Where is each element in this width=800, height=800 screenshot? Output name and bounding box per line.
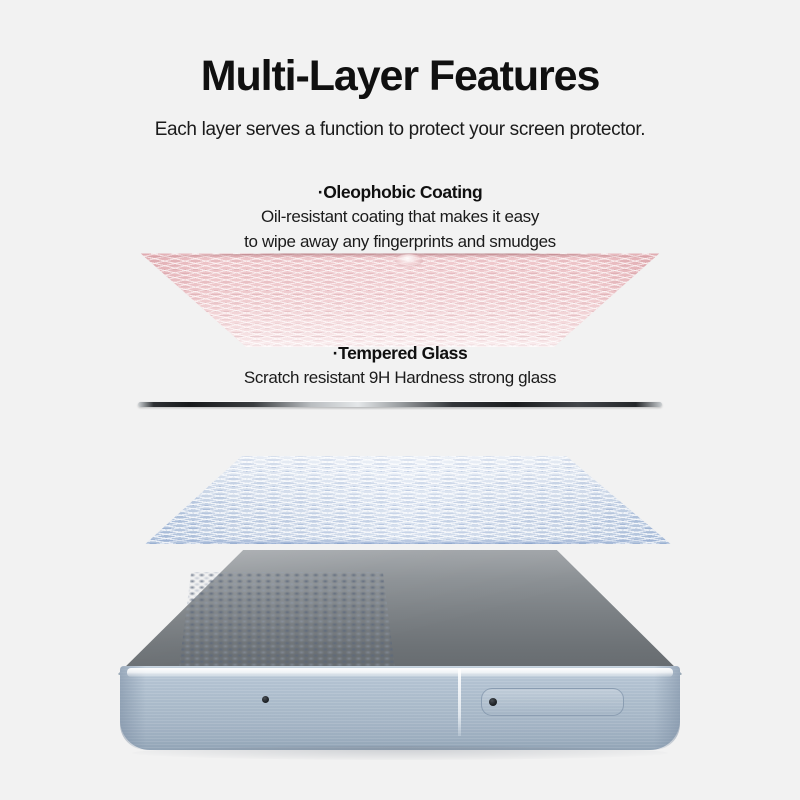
tempered-glass-highlight [143, 401, 657, 403]
caption-title-tempered: ·Tempered Glass [0, 341, 800, 366]
caption-desc-oleophobic-line-2: to wipe away any fingerprints and smudge… [0, 230, 800, 255]
phone-drop-shadow [132, 746, 668, 760]
usb-c-port [481, 688, 624, 716]
speaker-hole-icon [489, 698, 497, 706]
smartphone-illustration [0, 540, 800, 770]
caption-label-oleophobic: Oleophobic Coating [323, 182, 482, 202]
caption-title-oleophobic: ·Oleophobic Coating [0, 180, 800, 205]
caption-tempered-glass: ·Tempered Glass Scratch resistant 9H Har… [0, 341, 800, 391]
camera-cutout-icon [395, 254, 423, 267]
abfilm-mesh-texture [140, 452, 676, 552]
frame-right-edge [654, 666, 680, 750]
microphone-hole-icon [262, 696, 269, 703]
frame-left-edge [120, 666, 146, 750]
layer-oleophobic-coating [130, 248, 670, 348]
caption-label-tempered: Tempered Glass [338, 343, 467, 363]
phone-bottom-frame [120, 666, 680, 750]
caption-oleophobic-coating: ·Oleophobic Coating Oil-resistant coatin… [0, 180, 800, 255]
antenna-seam-line [458, 669, 462, 736]
layer-tempered-glass [138, 398, 662, 411]
page-title: Multi-Layer Features [0, 52, 800, 101]
tempered-glass-shadow [154, 407, 647, 410]
infographic-canvas: Multi-Layer Features Each layer serves a… [0, 0, 800, 800]
caption-desc-oleophobic-line-1: Oil-resistant coating that makes it easy [0, 205, 800, 230]
layer-abfilm [140, 452, 676, 552]
page-subtitle: Each layer serves a function to protect … [0, 119, 800, 141]
screen-honeycomb-texture [178, 572, 396, 676]
caption-desc-tempered-line-1: Scratch resistant 9H Hardness strong gla… [0, 366, 800, 391]
frame-highlight [127, 668, 674, 677]
